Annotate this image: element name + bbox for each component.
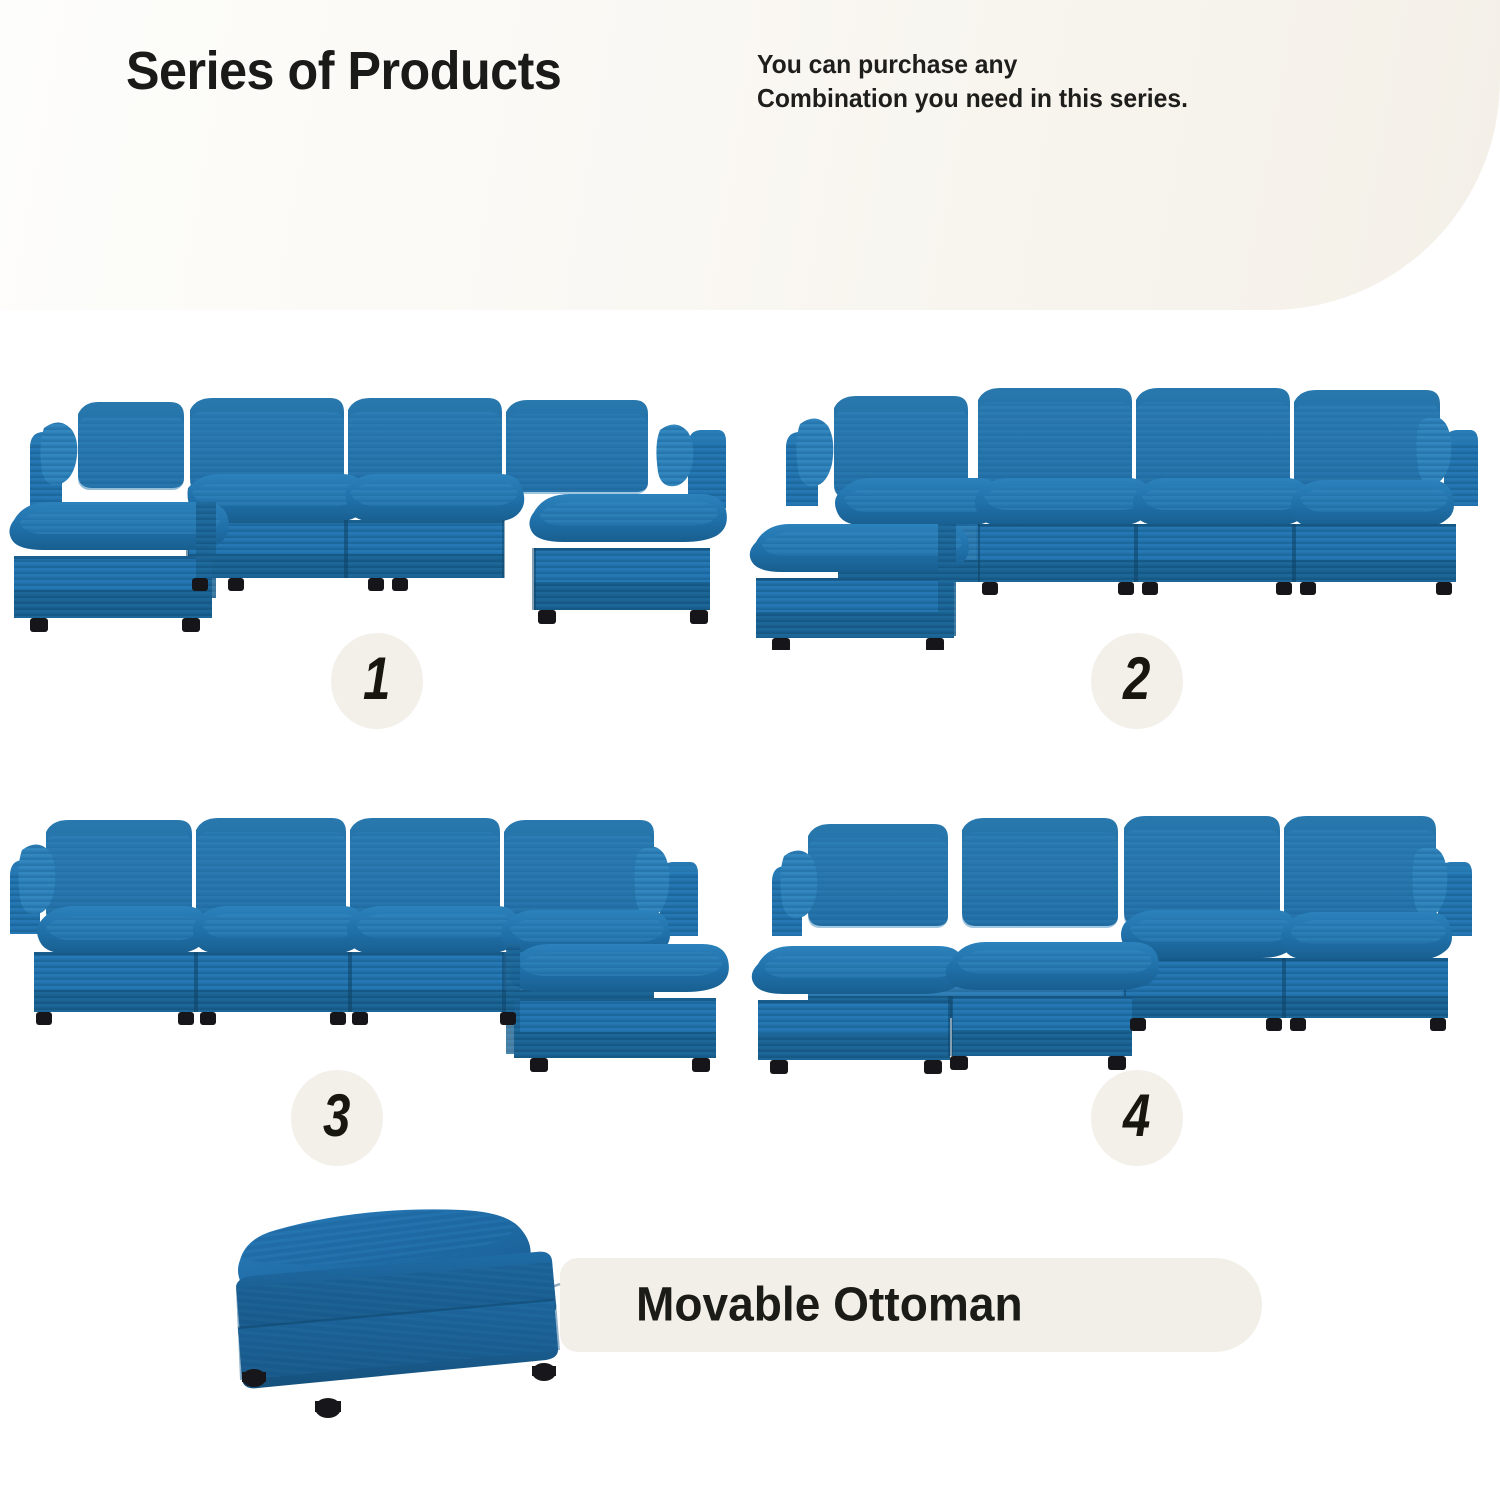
movable-ottoman-pill: Movable Ottoman — [560, 1258, 1262, 1352]
product-number-badge-4: 4 — [1091, 1070, 1183, 1166]
header-subtitle-line-2: Combination you need in this series. — [757, 81, 1188, 115]
product-number-badge-2: 2 — [1091, 633, 1183, 729]
header-subtitle-line-1: You can purchase any — [757, 47, 1188, 81]
seat-cushion-row — [1121, 910, 1452, 960]
product-1-cell[interactable] — [0, 370, 750, 650]
seat-cushion-row — [975, 478, 1454, 528]
front-ottoman — [750, 524, 969, 638]
product-number-label-1: 1 — [363, 649, 390, 709]
product-number-label-3: 3 — [323, 1086, 350, 1146]
seat-cushion-row — [188, 474, 525, 522]
header-subtitle: You can purchase any Combination you nee… — [757, 47, 1188, 116]
left-ottoman — [9, 502, 228, 618]
front-ottoman — [506, 944, 729, 1058]
product-number-label-4: 4 — [1123, 1086, 1150, 1146]
movable-ottoman-illustration — [196, 1186, 606, 1436]
product-4-cell[interactable] — [738, 800, 1488, 1080]
page-title: Series of Products — [126, 40, 561, 102]
front-ottoman-left — [752, 946, 965, 1060]
left-arm — [30, 422, 77, 508]
product-3-sofa-illustration — [0, 800, 750, 1080]
front-ottoman-right — [946, 942, 1159, 1056]
back-cushion-row — [808, 816, 1436, 928]
product-1-sofa-illustration — [0, 370, 750, 650]
movable-ottoman-label: Movable Ottoman — [636, 1278, 1023, 1333]
seat-base-row — [186, 520, 505, 578]
product-number-badge-3: 3 — [291, 1070, 383, 1166]
left-arm — [786, 418, 833, 506]
header-banner: Series of Products You can purchase any … — [0, 0, 1500, 310]
product-number-badge-1: 1 — [331, 633, 423, 729]
product-number-label-2: 2 — [1123, 649, 1150, 709]
product-4-sofa-illustration — [738, 800, 1488, 1080]
product-2-sofa-illustration — [738, 370, 1488, 650]
product-2-cell[interactable] — [738, 370, 1488, 650]
product-3-cell[interactable] — [0, 800, 750, 1080]
right-ottoman — [529, 494, 726, 610]
